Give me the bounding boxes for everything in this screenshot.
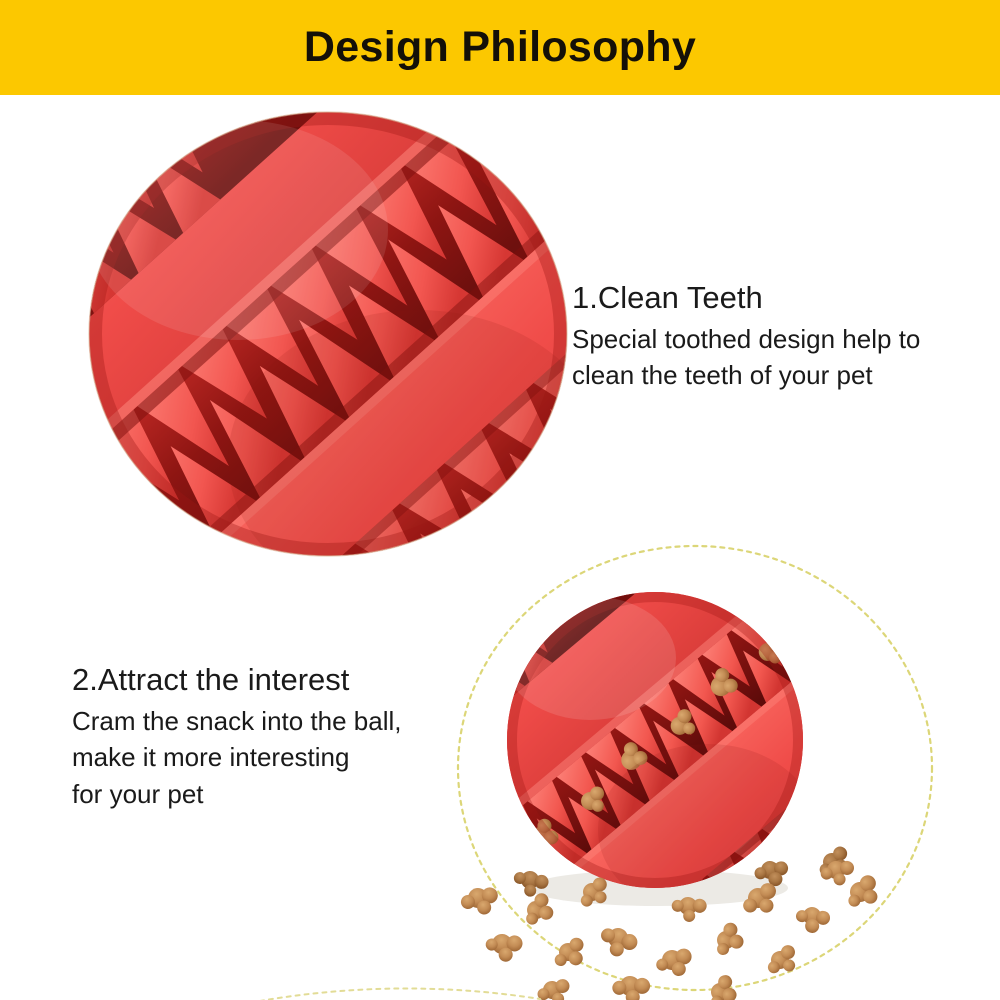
ball-closeup-image <box>88 110 568 558</box>
feature-body-line: clean the teeth of your pet <box>572 357 982 394</box>
feature-heading-attract-interest: 2.Attract the interest <box>72 662 472 699</box>
feature-heading-clean-teeth: 1.Clean Teeth <box>572 280 982 317</box>
kibble-ball <box>440 540 1000 1000</box>
ball-with-kibble-image <box>440 540 1000 1000</box>
ball-closeup-graphic <box>88 110 568 558</box>
ball-with-kibble-graphic <box>440 540 1000 1000</box>
infographic-page: Design Philosophy <box>0 0 1000 1000</box>
feature-clean-teeth: 1.Clean Teeth Special toothed design hel… <box>572 280 982 394</box>
feature-body-line: Special toothed design help to <box>572 321 982 358</box>
feature-body-clean-teeth: Special toothed design help to clean the… <box>572 321 982 395</box>
feature-body-line: for your pet <box>72 776 472 813</box>
feature-body-line: Cram the snack into the ball, <box>72 703 472 740</box>
feature-body-line: make it more interesting <box>72 739 472 776</box>
feature-attract-interest: 2.Attract the interest Cram the snack in… <box>72 662 472 813</box>
bottom-dashed-arc <box>250 965 550 1000</box>
header-banner: Design Philosophy <box>0 0 1000 95</box>
page-title: Design Philosophy <box>304 26 696 69</box>
feature-body-attract-interest: Cram the snack into the ball, make it mo… <box>72 703 472 814</box>
